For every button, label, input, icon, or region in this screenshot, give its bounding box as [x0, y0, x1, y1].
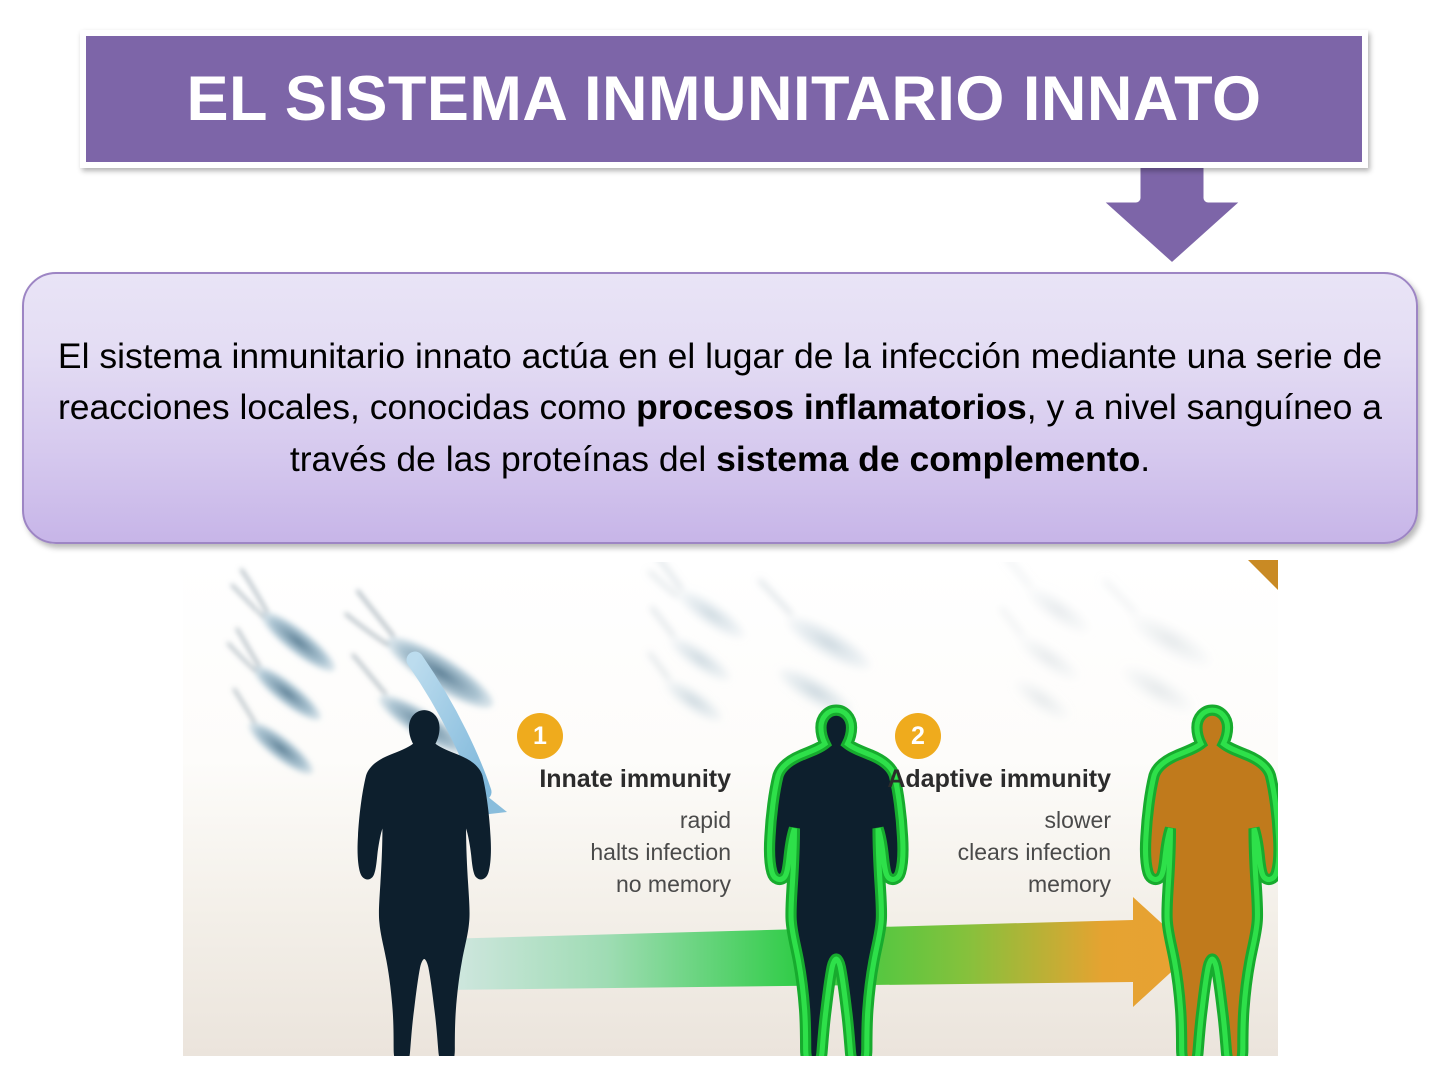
bacteria-cluster-right	[987, 562, 1221, 726]
page-title: EL SISTEMA INMUNITARIO INNATO	[186, 68, 1261, 131]
bacteria-cluster-middle	[635, 562, 880, 728]
step-badge-2: 2	[895, 713, 941, 759]
description-bold-1: procesos inflamatorios	[636, 387, 1027, 427]
adaptive-immunity-line-1: slower	[723, 804, 1111, 836]
innate-immunity-line-2: halts infection	[371, 836, 731, 868]
gold-corner-accent	[1248, 560, 1278, 590]
immunity-diagram: 1 Innate immunity rapid halts infection …	[183, 562, 1278, 1056]
down-arrow	[1084, 150, 1260, 275]
innate-immunity-line-1: rapid	[371, 804, 731, 836]
adaptive-immunity-title: Adaptive immunity	[723, 765, 1111, 794]
description-bold-2: sistema de complemento	[716, 439, 1140, 479]
description-callout: El sistema inmunitario innato actúa en e…	[22, 272, 1418, 544]
slide-title-banner: EL SISTEMA INMUNITARIO INNATO	[80, 30, 1368, 168]
adaptive-immunity-line-3: memory	[723, 868, 1111, 900]
figure-adaptive-immunity	[1145, 710, 1278, 1056]
innate-immunity-line-3: no memory	[371, 868, 731, 900]
description-segment-3: .	[1140, 439, 1150, 479]
step-badge-1: 1	[517, 713, 563, 759]
innate-immunity-label-block: Innate immunity rapid halts infection no…	[371, 765, 731, 901]
description-text: El sistema inmunitario innato actúa en e…	[50, 331, 1390, 485]
adaptive-immunity-line-2: clears infection	[723, 836, 1111, 868]
innate-immunity-title: Innate immunity	[371, 765, 731, 794]
adaptive-immunity-label-block: Adaptive immunity slower clears infectio…	[723, 765, 1111, 901]
down-arrow-icon	[1084, 150, 1260, 275]
